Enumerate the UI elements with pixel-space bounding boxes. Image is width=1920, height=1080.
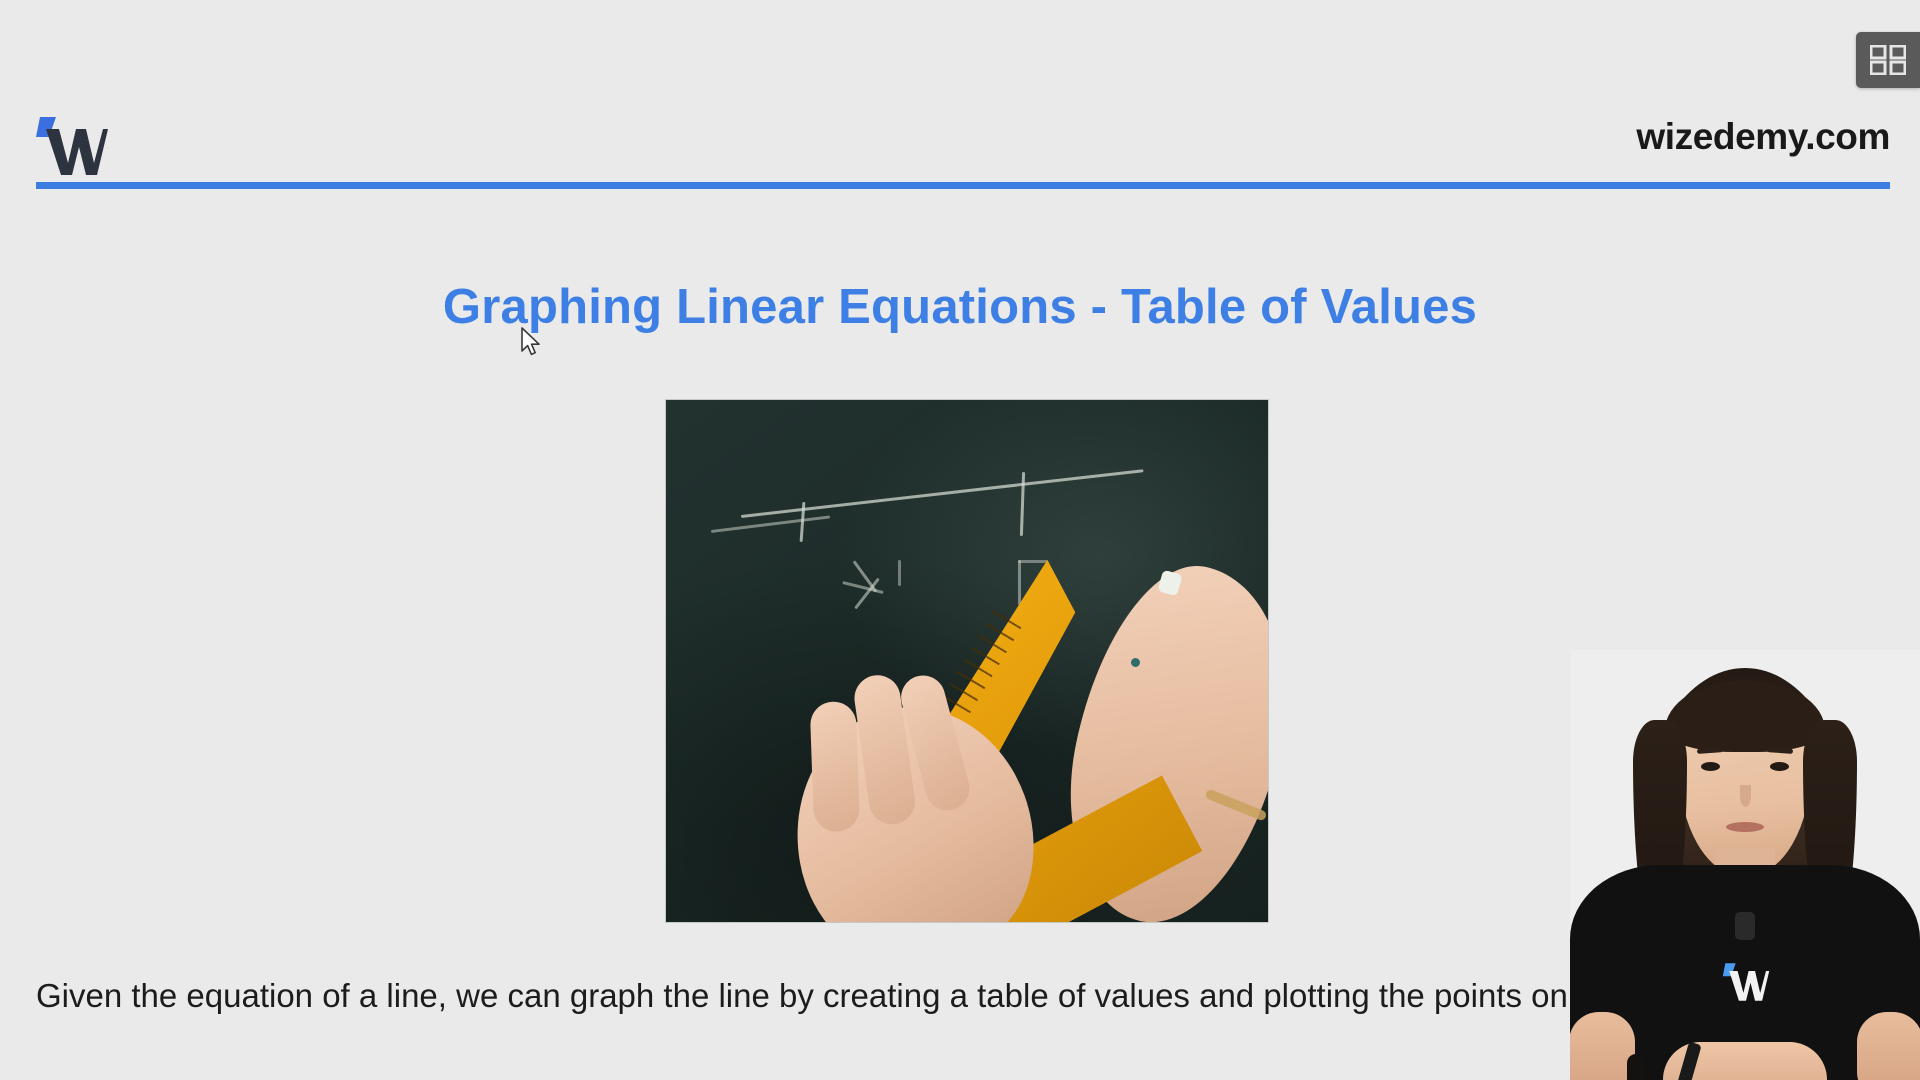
presenter-mouth (1726, 822, 1764, 832)
grid-view-button[interactable] (1856, 32, 1920, 88)
wrist-tattoo (1131, 658, 1140, 667)
chalk-mark-icon (898, 560, 901, 586)
lapel-microphone-icon (1735, 912, 1755, 940)
header-divider (36, 182, 1890, 189)
brand-wordmark: wizedemy.com (1636, 118, 1890, 155)
presenter-wristband (1627, 1054, 1645, 1080)
grid-four-squares-icon (1870, 45, 1906, 75)
presenter-eye (1701, 762, 1720, 771)
presenter-nose (1740, 785, 1751, 807)
slide-header: wizedemy.com (0, 90, 1920, 200)
presenter-video[interactable] (1570, 650, 1920, 1080)
finger (810, 701, 861, 833)
presenter-eye (1770, 762, 1789, 771)
page-title: Graphing Linear Equations - Table of Val… (0, 283, 1920, 332)
presenter-arm (1570, 1012, 1635, 1080)
wizedemy-w-logo-icon (36, 115, 108, 177)
chalkboard-geometry-photo (666, 400, 1268, 922)
wizedemy-w-logo-icon (1718, 962, 1774, 1002)
presenter-arm (1857, 1012, 1920, 1080)
